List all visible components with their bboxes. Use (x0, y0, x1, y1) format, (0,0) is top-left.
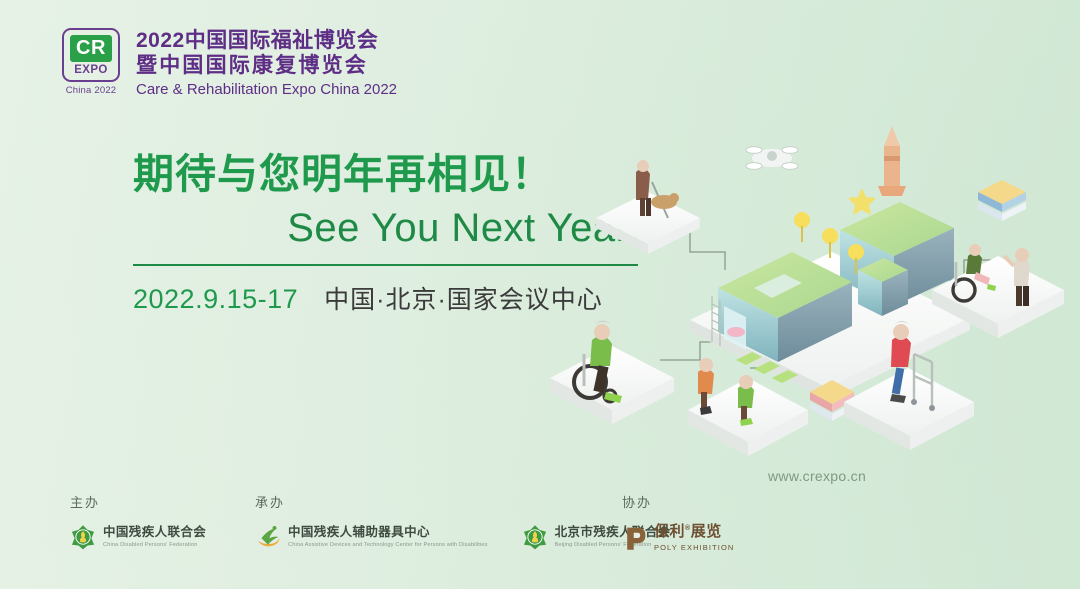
org-cdpf-name-en: China Disabled Persons' Federation (103, 542, 206, 549)
star-icon (848, 188, 876, 215)
org-cadtc-name-en: China Assistive Devices and Technology C… (288, 542, 488, 549)
swoosh-emblem-icon (255, 524, 281, 550)
scene-svg (540, 110, 1080, 490)
logo-subtitle: China 2022 (66, 85, 117, 96)
monument-tower (878, 126, 906, 196)
org-cadtc-name-cn: 中国残疾人辅助器具中心 (288, 525, 488, 540)
org-cdpf-name-cn: 中国残疾人联合会 (103, 525, 206, 540)
partner-group-coorganizer-label: 协办 (622, 492, 734, 511)
org-poly-text: 保利®展览 POLY EXHIBITION (654, 524, 734, 552)
org-cdpf: 中国残疾人联合会 China Disabled Persons' Federat… (70, 524, 206, 550)
partner-group-host-label: 主办 (70, 492, 206, 511)
logo-expo-text: EXPO (74, 64, 108, 76)
logo-cr-text: CR (70, 35, 112, 62)
partner-group-host-logos: 中国残疾人联合会 China Disabled Persons' Federat… (70, 524, 206, 550)
stacked-boxes-upper (978, 180, 1026, 221)
event-title-block: 2022中国国际福祉博览会 暨中国国际康复博览会 Care & Rehabili… (136, 28, 397, 99)
cr-expo-logo: CR EXPO China 2022 (60, 28, 122, 96)
platform-wheelchair-user (550, 321, 674, 425)
partner-group-host: 主办 中国残疾人联合会 China Disabled Persons' Fede… (70, 492, 206, 550)
event-date: 2022.9.15-17 (133, 284, 298, 315)
org-poly-exhibition: 保利®展览 POLY EXHIBITION (622, 524, 734, 552)
cr-building (690, 188, 970, 400)
event-title-cn-line1: 2022中国国际福祉博览会 (136, 29, 397, 54)
org-poly-name-cn-main: 保利 (654, 523, 685, 540)
drone-icon (746, 147, 798, 170)
partner-group-organizer-label: 承办 (255, 492, 671, 511)
partner-group-organizer-logos: 中国残疾人辅助器具中心 China Assistive Devices and … (255, 524, 671, 550)
partner-group-organizer: 承办 中国残疾人辅助器具中心 China Assistive Devices a… (255, 492, 671, 550)
partner-group-coorganizer-logos: 保利®展览 POLY EXHIBITION (622, 524, 734, 552)
footer-partners: 主办 中国残疾人联合会 China Disabled Persons' Fede… (0, 492, 1080, 589)
poly-p-icon (622, 525, 648, 551)
brand-header: CR EXPO China 2022 2022中国国际福祉博览会 暨中国国际康复… (60, 28, 397, 99)
org-poly-name-cn: 保利®展览 (654, 524, 734, 541)
event-title-cn-line2: 暨中国国际康复博览会 (136, 54, 397, 79)
platform-guide-dog (596, 160, 700, 254)
org-cadtc: 中国残疾人辅助器具中心 China Assistive Devices and … (255, 524, 488, 550)
org-poly-name-cn-suffix: 展览 (691, 523, 722, 540)
flower-emblem-icon (70, 524, 96, 550)
poster-canvas: CR EXPO China 2022 2022中国国际福祉博览会 暨中国国际康复… (0, 0, 1080, 589)
org-cadtc-text: 中国残疾人辅助器具中心 China Assistive Devices and … (288, 525, 488, 549)
logo-frame: CR EXPO (62, 28, 120, 82)
event-title-en: Care & Rehabilitation Expo China 2022 (136, 80, 397, 100)
partner-group-coorganizer: 协办 保利®展览 POLY EXHIBITION (622, 492, 734, 552)
org-poly-name-en: POLY EXHIBITION (654, 543, 734, 552)
org-cdpf-text: 中国残疾人联合会 China Disabled Persons' Federat… (103, 525, 206, 549)
website-url[interactable]: www.crexpo.cn (768, 468, 866, 484)
isometric-illustration (540, 110, 1080, 490)
flower-emblem-icon (522, 524, 548, 550)
